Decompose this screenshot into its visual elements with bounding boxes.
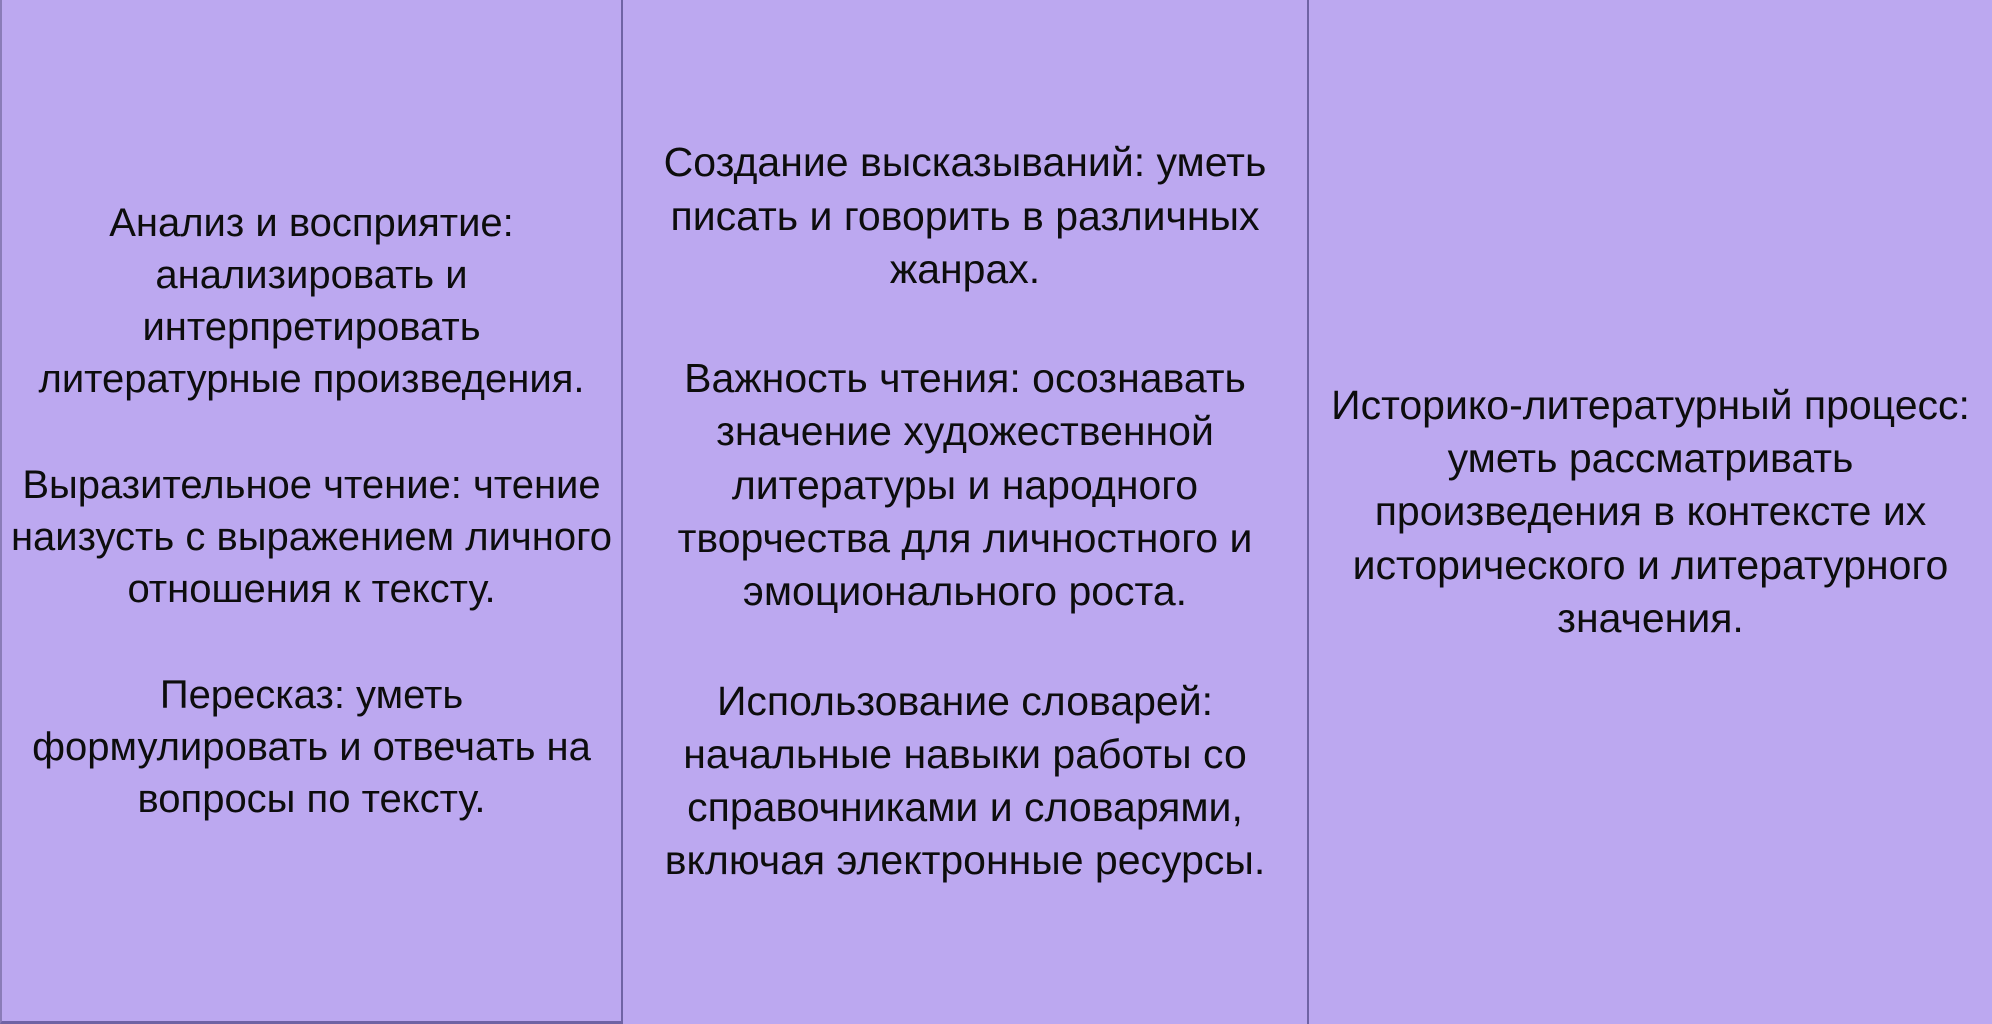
column-2-paragraph-2: Важность чтения: осознавать значение худ… bbox=[633, 352, 1297, 618]
column-3-paragraph-1: Историко-литературный процесс: уметь рас… bbox=[1317, 379, 1984, 645]
column-2-paragraph-1: Создание высказываний: уметь писать и го… bbox=[633, 136, 1297, 296]
column-2: Создание высказываний: уметь писать и го… bbox=[621, 0, 1307, 1024]
column-2-paragraph-3: Использование словарей: начальные навыки… bbox=[633, 675, 1297, 888]
column-2-body: Создание высказываний: уметь писать и го… bbox=[633, 136, 1297, 888]
three-column-slide: Анализ и восприятие: анализировать и инт… bbox=[0, 0, 1992, 1024]
column-1-paragraph-3: Пересказ: уметь формулировать и отвечать… bbox=[10, 669, 613, 825]
column-1-paragraph-2: Выразительное чтение: чтение наизусть с … bbox=[10, 459, 613, 615]
column-3: Историко-литературный процесс: уметь рас… bbox=[1307, 0, 1992, 1024]
column-1: Анализ и восприятие: анализировать и инт… bbox=[0, 0, 621, 1024]
column-3-body: Историко-литературный процесс: уметь рас… bbox=[1317, 379, 1984, 645]
column-1-body: Анализ и восприятие: анализировать и инт… bbox=[10, 197, 613, 825]
column-1-paragraph-1: Анализ и восприятие: анализировать и инт… bbox=[10, 197, 613, 405]
